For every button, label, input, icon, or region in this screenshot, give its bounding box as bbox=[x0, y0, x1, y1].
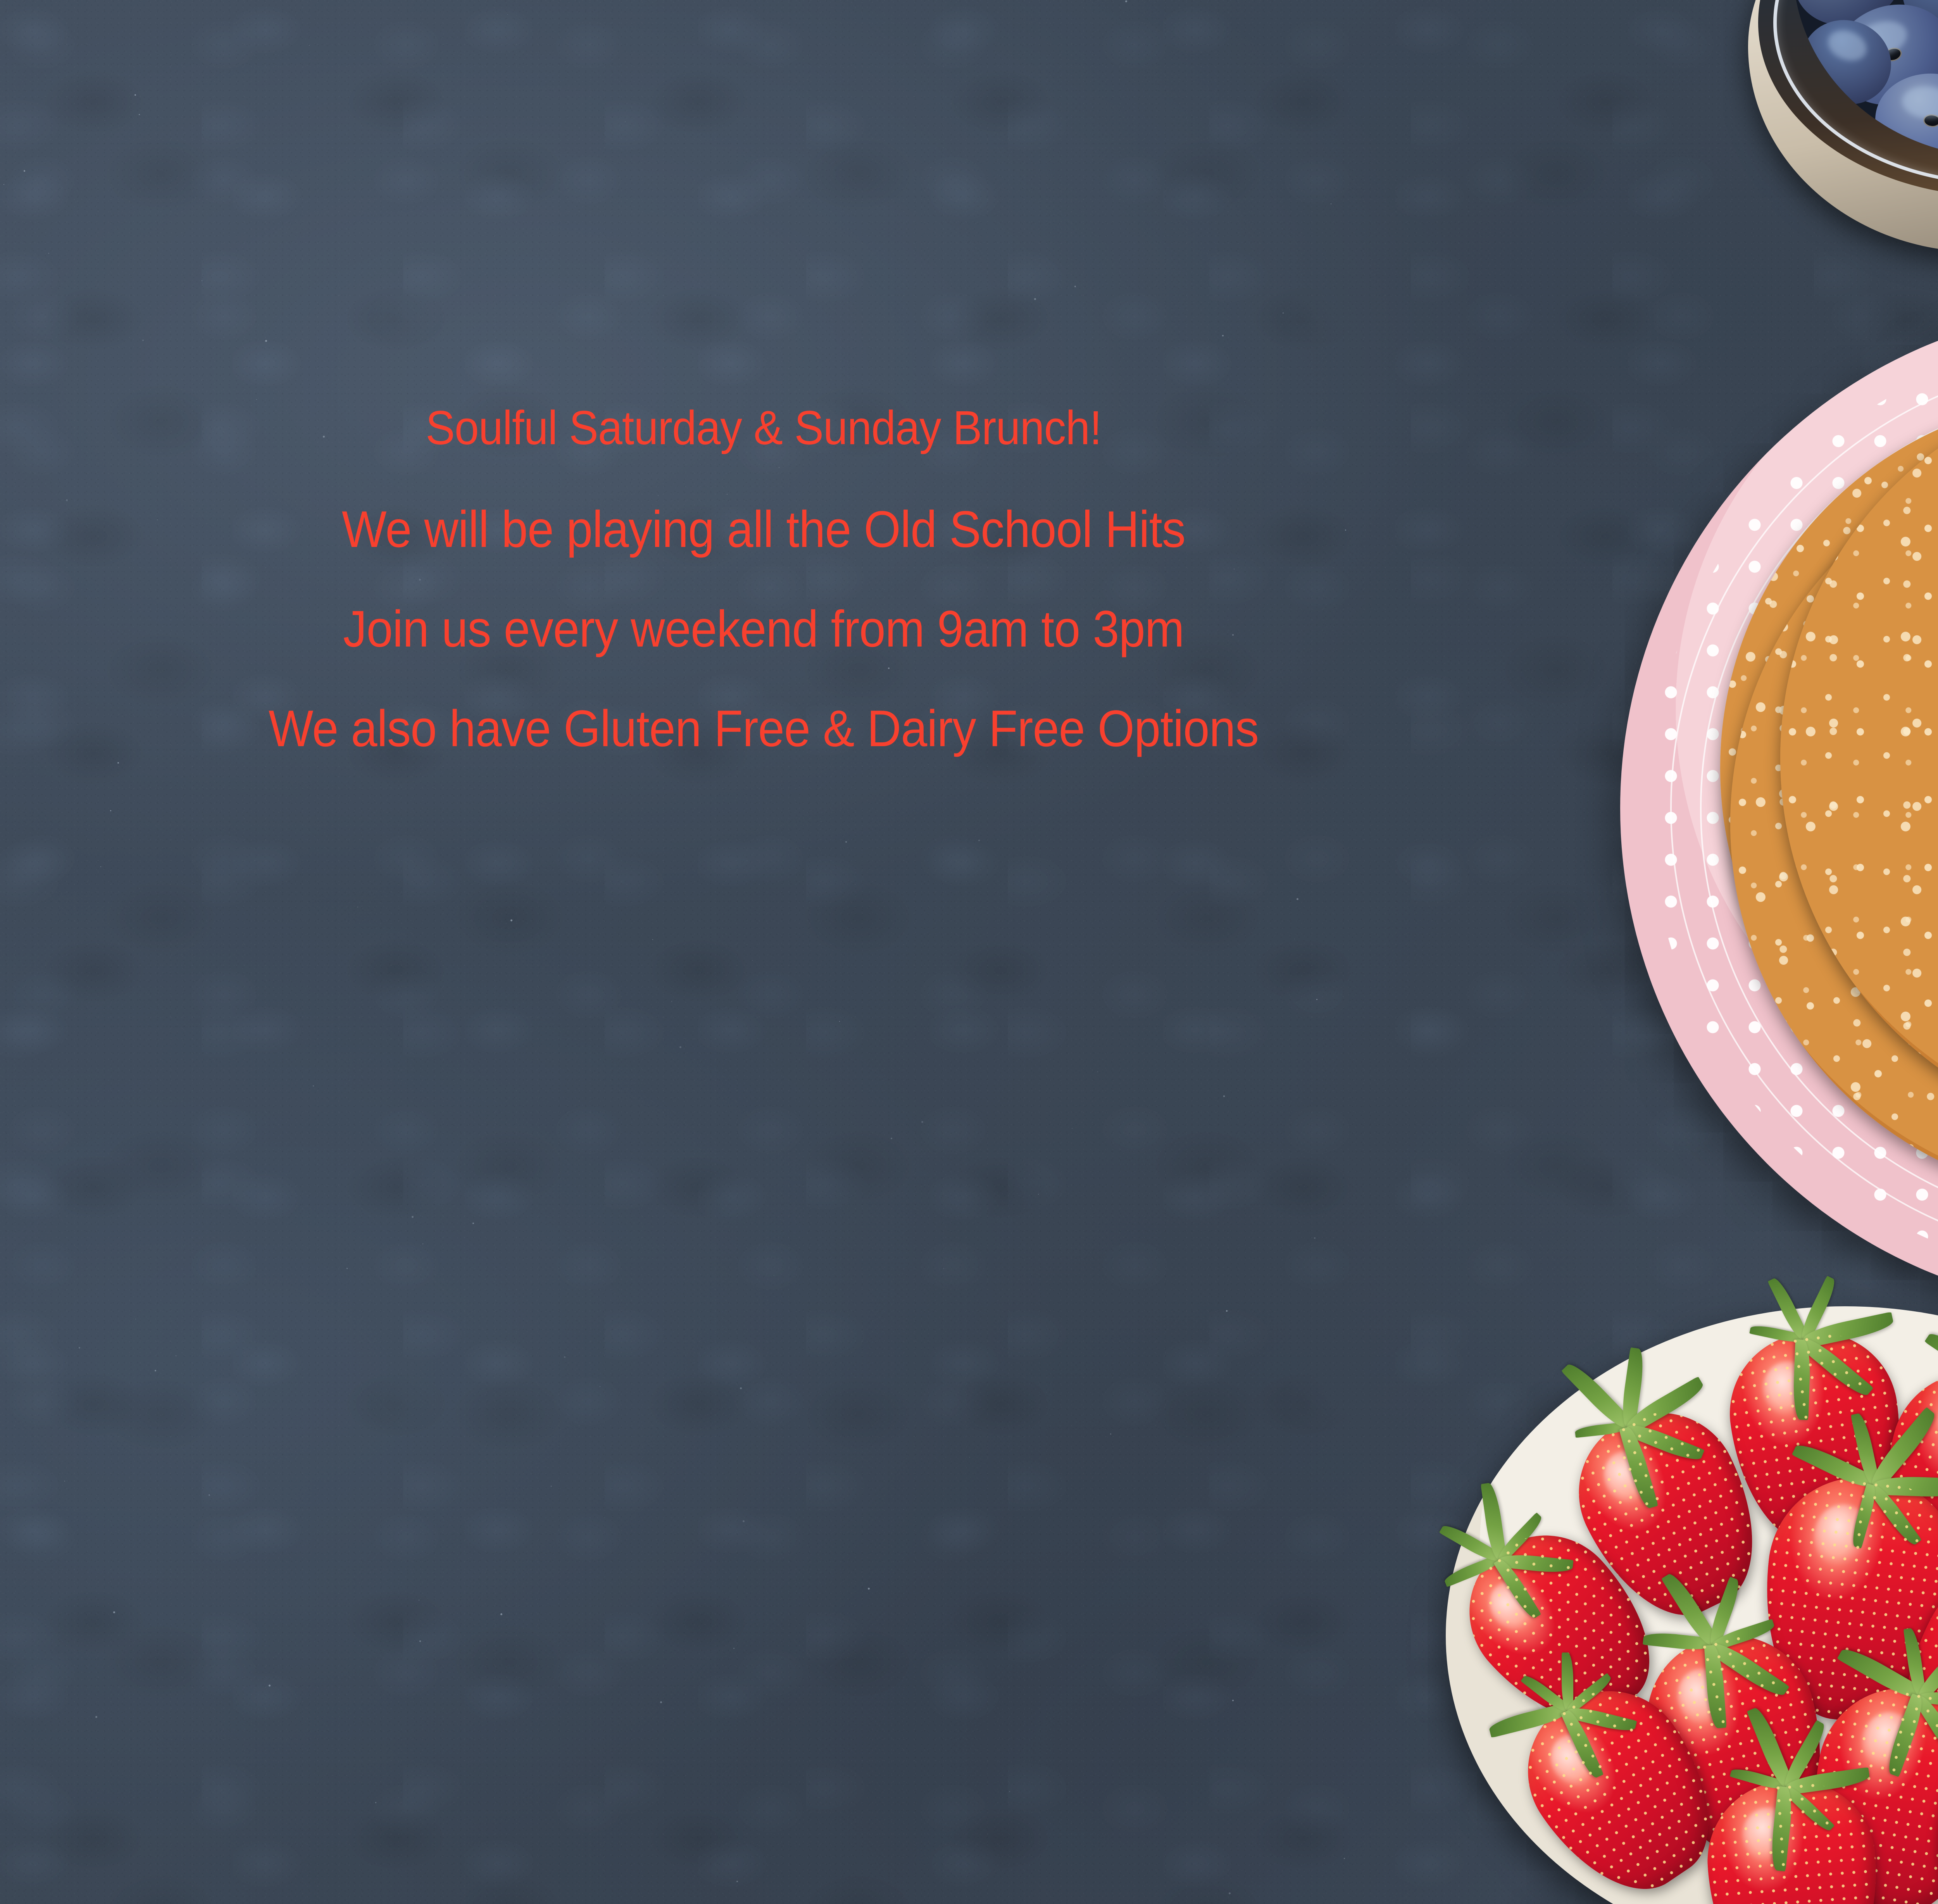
strawberry-plate bbox=[1446, 1306, 1938, 1904]
pancake-plate bbox=[1620, 306, 1938, 1310]
promo-line-4: We also have Gluten Free & Dairy Free Op… bbox=[104, 702, 1423, 756]
promo-line-1: Soulful Saturday & Sunday Brunch! bbox=[104, 403, 1423, 454]
promo-line-2: We will be playing all the Old School Hi… bbox=[104, 502, 1423, 557]
promo-text-block: Soulful Saturday & Sunday Brunch! We wil… bbox=[47, 403, 1481, 756]
brunch-promo-poster: Soulful Saturday & Sunday Brunch! We wil… bbox=[0, 0, 1938, 1904]
blueberry-bowl bbox=[1748, 0, 1938, 252]
promo-line-3: Join us every weekend from 9am to 3pm bbox=[104, 602, 1423, 657]
strawberry bbox=[1702, 1775, 1884, 1904]
